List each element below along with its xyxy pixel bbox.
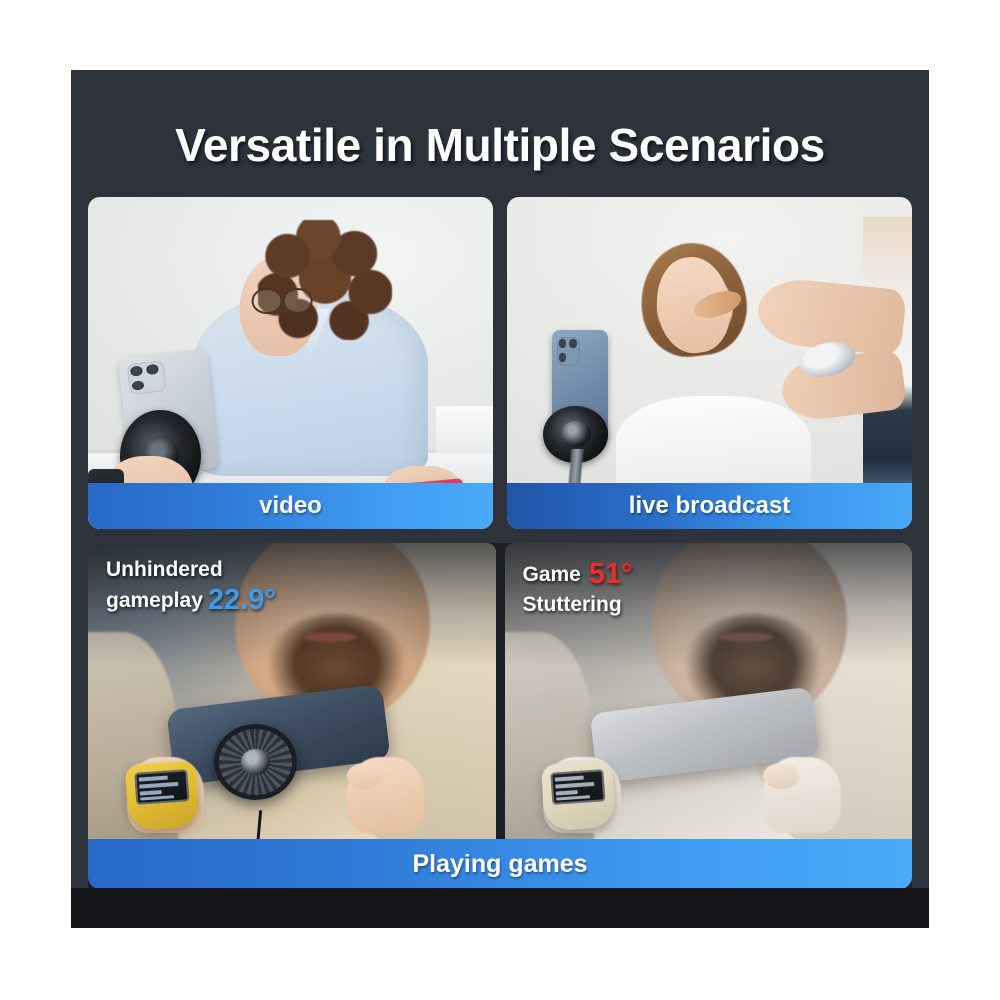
lcd-line	[140, 795, 174, 801]
caption-line-2: gameplay	[106, 589, 203, 612]
scene-live-broadcast-photo	[507, 197, 912, 529]
lcd-line	[139, 782, 178, 788]
mouth	[304, 632, 357, 642]
hands-holding-phone	[537, 667, 847, 833]
panel-bottom-strip	[71, 888, 929, 928]
card-row-top: video	[88, 197, 912, 529]
lcd-line	[139, 776, 168, 781]
wall-edge	[436, 406, 493, 452]
pane-unhindered-gameplay[interactable]: Unhindered gameplay22.9°	[88, 543, 496, 839]
card-label-text: Playing games	[412, 850, 587, 879]
lcd-line	[555, 776, 584, 781]
scenario-card-grid: video	[88, 197, 912, 897]
temperature-reading-hot: 51°	[589, 558, 633, 590]
thermometer-lcd-screen	[134, 770, 189, 805]
infrared-thermometer-yellow	[125, 761, 201, 832]
eyeglasses-icon	[252, 290, 313, 312]
phone-cooler-fan	[214, 724, 298, 800]
card-playing-games[interactable]: Unhindered gameplay22.9°	[88, 543, 912, 897]
caption-line-1: Unhindered	[106, 557, 276, 583]
camera-module	[557, 337, 581, 366]
thumb	[763, 763, 799, 789]
thermometer-lcd-screen	[551, 770, 606, 805]
card-live-broadcast[interactable]: live broadcast	[507, 197, 912, 529]
right-hand	[347, 757, 424, 833]
caption-unhindered-gameplay: Unhindered gameplay22.9°	[106, 557, 276, 618]
caption-game-stuttering: Game51° Stuttering	[523, 557, 633, 618]
thumb	[347, 763, 383, 789]
caption-line-2: Stuttering	[523, 592, 633, 618]
promo-panel: Versatile in Multiple Scenarios	[71, 70, 929, 928]
card-label-video: video	[88, 483, 493, 529]
card-row-bottom: Unhindered gameplay22.9°	[88, 543, 912, 897]
temperature-reading-cool: 22.9°	[208, 584, 276, 616]
lcd-line	[557, 795, 591, 801]
caption-line-1: Game	[523, 563, 581, 586]
right-hand	[763, 757, 840, 833]
caption-line-1-row: Game51°	[523, 557, 633, 592]
card-label-text: video	[259, 492, 322, 520]
page-title: Versatile in Multiple Scenarios	[71, 118, 929, 172]
camera-module	[127, 360, 167, 395]
card-label-text: live broadcast	[629, 492, 790, 520]
card-video[interactable]: video	[88, 197, 493, 529]
playing-games-pane-group: Unhindered gameplay22.9°	[88, 543, 912, 839]
curly-hair	[258, 220, 392, 340]
card-label-playing-games: Playing games	[88, 839, 912, 889]
hands-holding-phone	[121, 667, 431, 833]
camera-lens	[147, 364, 160, 375]
caption-line-2-row: gameplay22.9°	[106, 583, 276, 618]
promo-image-root: Versatile in Multiple Scenarios	[0, 0, 1000, 1000]
camera-lens	[132, 380, 145, 391]
camera-lens	[559, 339, 567, 348]
camera-lens	[130, 366, 143, 377]
lcd-line	[556, 782, 595, 788]
camera-lens	[559, 353, 567, 362]
lcd-line	[556, 791, 577, 796]
scene-video-photo	[88, 197, 493, 529]
pane-game-stuttering[interactable]: Game51° Stuttering	[505, 543, 913, 839]
infrared-thermometer-yellow	[541, 761, 617, 832]
card-label-live-broadcast: live broadcast	[507, 483, 912, 529]
camera-lens	[569, 339, 577, 348]
cooler-cable	[255, 810, 262, 839]
lcd-line	[140, 791, 161, 796]
